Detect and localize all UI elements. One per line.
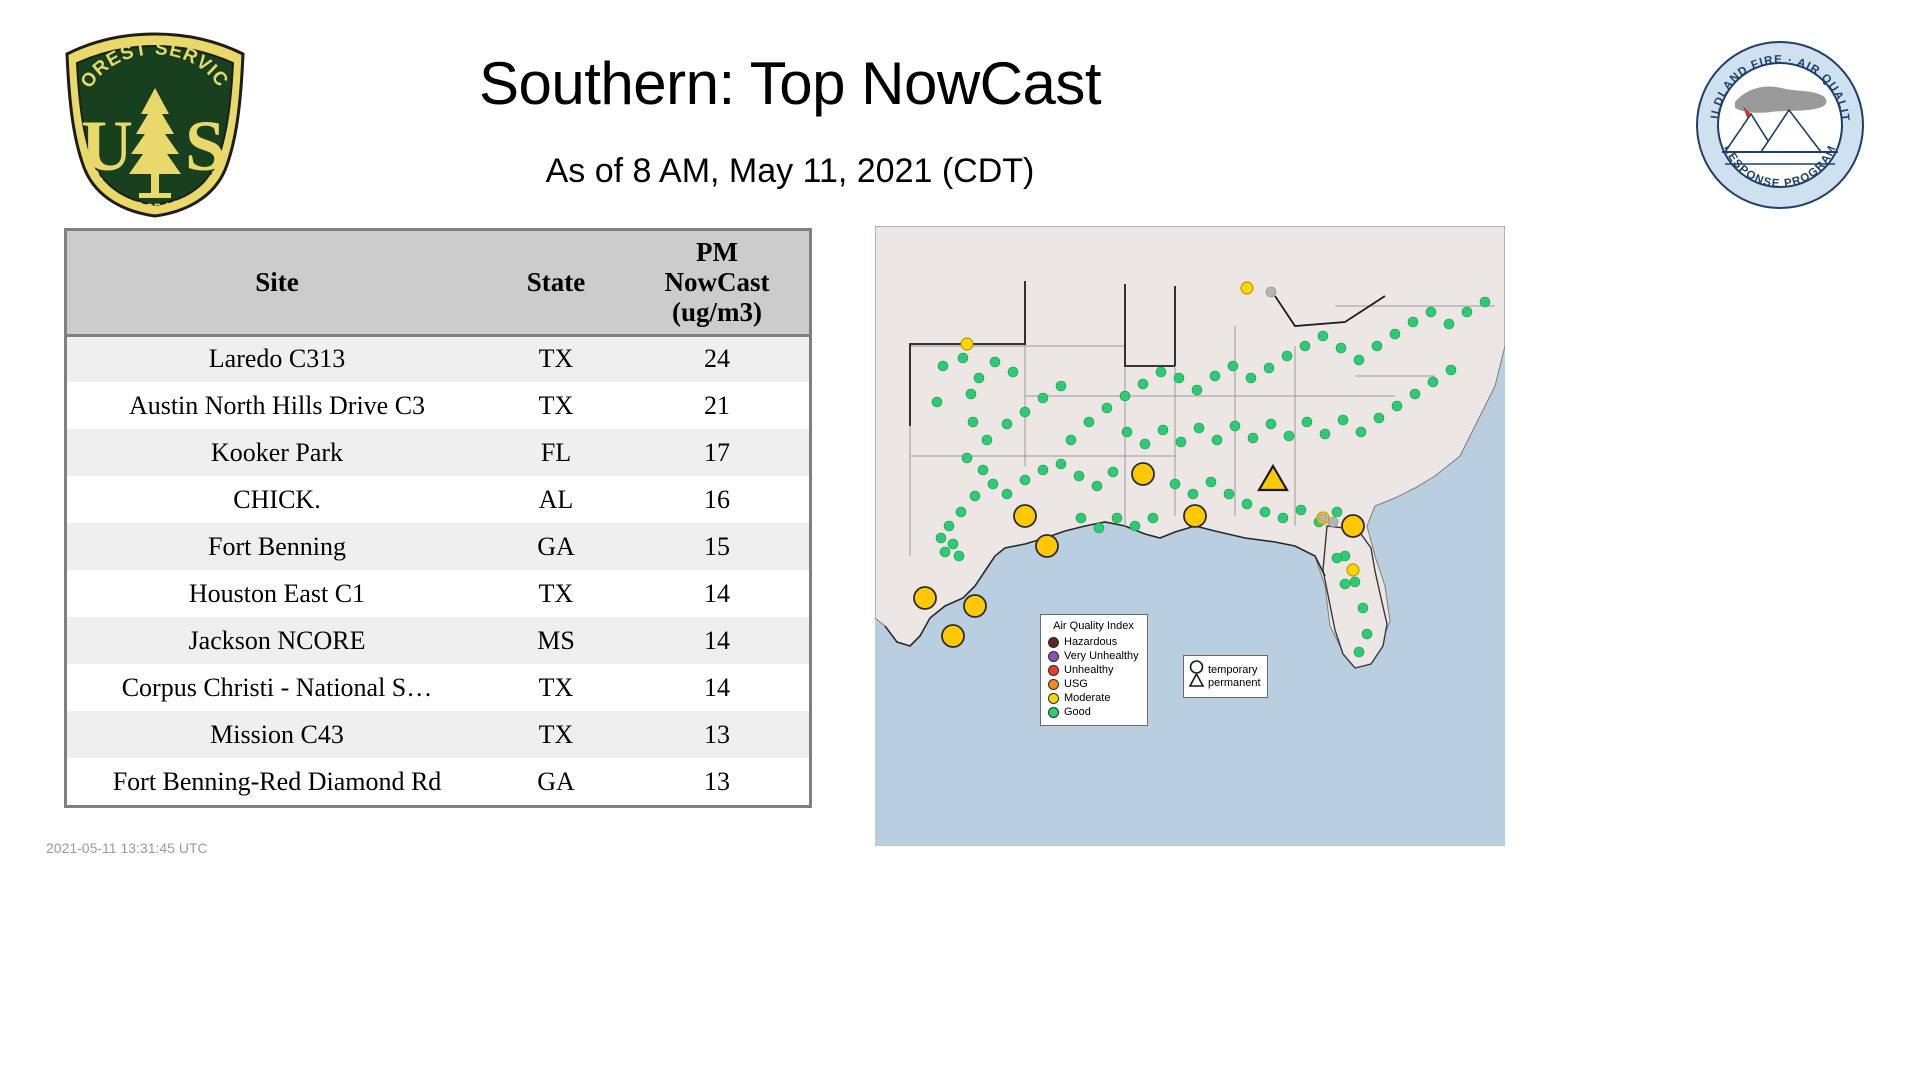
pm-cell: 14	[625, 570, 809, 617]
page-subtitle: As of 8 AM, May 11, 2021 (CDT)	[260, 152, 1320, 191]
state-cell: GA	[487, 523, 625, 570]
map-legend-air-quality-index: Air Quality Index HazardousVery Unhealth…	[1040, 614, 1148, 726]
legend-item: USG	[1048, 677, 1139, 691]
legend-swatch-icon	[1048, 665, 1059, 676]
site-cell: Corpus Christi - National S…	[67, 664, 487, 711]
pm-cell: 14	[625, 664, 809, 711]
table-header-row: Site State PM NowCast (ug/m3)	[67, 231, 809, 335]
pm-cell: 14	[625, 617, 809, 664]
top-nowcast-table: Site State PM NowCast (ug/m3) Laredo C31…	[64, 228, 812, 808]
monitor-type-shapes	[1188, 659, 1205, 694]
legend-swatch-icon	[1048, 693, 1059, 704]
footer-timestamp: 2021-05-11 13:31:45 UTC	[46, 840, 208, 856]
state-cell: FL	[487, 429, 625, 476]
column-header-pm-line3: (ug/m3)	[629, 297, 805, 327]
legend-permanent-label: permanent	[1208, 677, 1261, 690]
column-header-pm-line1: PM	[629, 237, 805, 267]
slide-canvas: FOREST SERVICE U S DEPARTMENT OF AGRICUL…	[0, 0, 1920, 1080]
legend-item-label: USG	[1064, 678, 1088, 690]
pm-cell: 24	[625, 335, 809, 382]
site-cell: CHICK.	[67, 476, 487, 523]
site-cell: Fort Benning-Red Diamond Rd	[67, 758, 487, 805]
state-cell: TX	[487, 335, 625, 382]
table-row[interactable]: Fort Benning-Red Diamond RdGA13	[67, 758, 809, 805]
column-header-pm-line2: NowCast	[629, 267, 805, 297]
state-cell: TX	[487, 570, 625, 617]
column-header-site[interactable]: Site	[67, 231, 487, 335]
table-row[interactable]: Kooker ParkFL17	[67, 429, 809, 476]
site-cell: Austin North Hills Drive C3	[67, 382, 487, 429]
legend-swatch-icon	[1048, 651, 1059, 662]
state-cell: TX	[487, 711, 625, 758]
pm-cell: 15	[625, 523, 809, 570]
state-cell: TX	[487, 382, 625, 429]
site-cell: Jackson NCORE	[67, 617, 487, 664]
table-row[interactable]: Laredo C313TX24	[67, 335, 809, 382]
state-cell: AL	[487, 476, 625, 523]
table-row[interactable]: CHICK.AL16	[67, 476, 809, 523]
wfaqrp-seal: WILDLAND FIRE · AIR QUALITY RESPONSE PRO…	[1695, 40, 1865, 210]
legend-item: Hazardous	[1048, 635, 1139, 649]
state-cell: MS	[487, 617, 625, 664]
table-row[interactable]: Austin North Hills Drive C3TX21	[67, 382, 809, 429]
legend-item-label: Unhealthy	[1064, 664, 1114, 676]
legend-item-label: Hazardous	[1064, 636, 1117, 648]
column-header-pm-nowcast[interactable]: PM NowCast (ug/m3)	[625, 231, 809, 335]
legend-item: Unhealthy	[1048, 663, 1139, 677]
aqi-monitor-map[interactable]	[875, 226, 1505, 846]
page-title: Southern: Top NowCast	[260, 52, 1320, 115]
site-cell: Mission C43	[67, 711, 487, 758]
usda-forest-service-shield: FOREST SERVICE U S DEPARTMENT OF AGRICUL…	[55, 30, 255, 220]
legend-item: Good	[1048, 705, 1139, 719]
permanent-triangle-icon	[1190, 674, 1203, 686]
legend-item-label: Very Unhealthy	[1064, 650, 1139, 662]
pm-cell: 13	[625, 758, 809, 805]
map-legend-monitor-type: temporary permanent	[1183, 655, 1268, 698]
site-cell: Kooker Park	[67, 429, 487, 476]
pm-cell: 21	[625, 382, 809, 429]
temporary-circle-icon	[1191, 661, 1203, 673]
legend-swatch-icon	[1048, 707, 1059, 718]
site-cell: Fort Benning	[67, 523, 487, 570]
site-cell: Laredo C313	[67, 335, 487, 382]
legend-temporary-label: temporary	[1208, 664, 1261, 677]
table-row[interactable]: Corpus Christi - National S…TX14	[67, 664, 809, 711]
pm-cell: 13	[625, 711, 809, 758]
legend-swatch-icon	[1048, 637, 1059, 648]
legend-title: Air Quality Index	[1048, 620, 1139, 632]
legend-item-label: Moderate	[1064, 692, 1110, 704]
state-cell: GA	[487, 758, 625, 805]
table-row[interactable]: Houston East C1TX14	[67, 570, 809, 617]
column-header-state[interactable]: State	[487, 231, 625, 335]
legend-item: Very Unhealthy	[1048, 649, 1139, 663]
pm-cell: 16	[625, 476, 809, 523]
table-row[interactable]: Jackson NCOREMS14	[67, 617, 809, 664]
site-cell: Houston East C1	[67, 570, 487, 617]
table-row[interactable]: Fort BenningGA15	[67, 523, 809, 570]
shield-letter-u: U	[81, 106, 133, 186]
legend-swatch-icon	[1048, 679, 1059, 690]
pm-cell: 17	[625, 429, 809, 476]
table-row[interactable]: Mission C43TX13	[67, 711, 809, 758]
legend-item-label: Good	[1064, 706, 1091, 718]
legend-item: Moderate	[1048, 691, 1139, 705]
state-cell: TX	[487, 664, 625, 711]
